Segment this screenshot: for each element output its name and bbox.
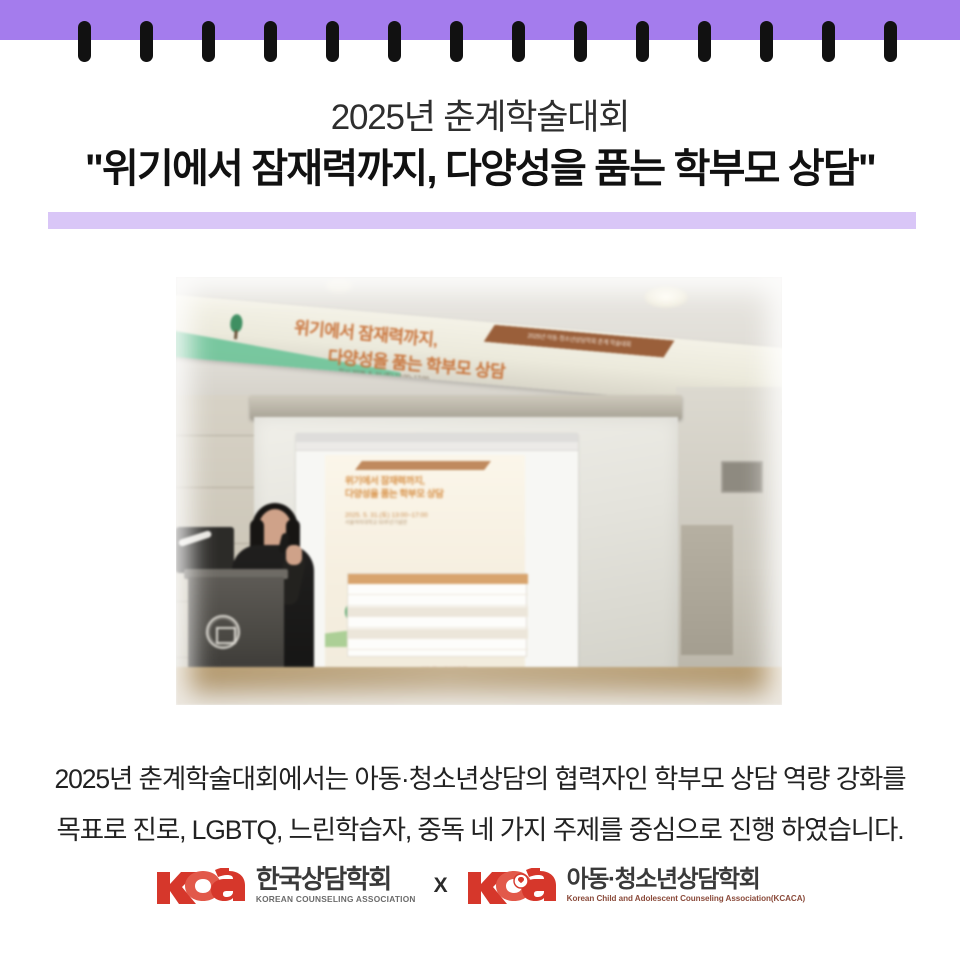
- kca-logo-text: 한국상담학회 KOREAN COUNSELING ASSOCIATION: [256, 866, 416, 905]
- projected-poster: 위기에서 잠재력까지, 다양성을 품는 학부모 상담 2025. 5. 31.(…: [325, 455, 525, 673]
- caption-line-1: 2025년 춘계학술대회에서는 아동·청소년상담의 협력자인 학부모 상담 역량…: [0, 754, 960, 805]
- projector-screen-frame: [250, 395, 682, 419]
- table-row: [348, 607, 528, 617]
- caption-block: 2025년 춘계학술대회에서는 아동·청소년상담의 협력자인 학부모 상담 역량…: [0, 754, 960, 856]
- presenter-hand: [286, 545, 302, 565]
- table-row: [348, 629, 528, 639]
- podium-emblem-icon: [206, 615, 240, 649]
- partner-logos: 한국상담학회 KOREAN COUNSELING ASSOCIATION X 아…: [0, 866, 960, 905]
- poster-title: 위기에서 잠재력까지, 다양성을 품는 학부모 상담: [345, 475, 513, 501]
- poster-ribbon: [355, 461, 491, 470]
- table-row: [348, 585, 528, 595]
- poster-title-line2: 다양성을 품는 학부모 상담: [345, 489, 443, 500]
- conference-photo: 2025년 아동·청소년상담학회 춘계 학술대회 위기에서 잠재력까지, 다양성…: [176, 277, 782, 705]
- table-row: [348, 596, 528, 606]
- kca-korean-name: 한국상담학회: [256, 866, 416, 893]
- browser-titlebar: [296, 433, 578, 442]
- poster-date: 2025. 5. 31.(토) 13:00~17:00: [345, 509, 428, 519]
- ceiling-light-secondary-icon: [326, 279, 352, 292]
- title-underline-bar: [48, 212, 916, 229]
- logo-kcaca: 아동·청소년상담학회 Korean Child and Adolescent C…: [466, 866, 805, 905]
- kcaca-english-name: Korean Child and Adolescent Counseling A…: [567, 893, 805, 905]
- poster-title-line1: 위기에서 잠재력까지,: [345, 476, 425, 487]
- caption-line-2: 목표로 진로, LGBTQ, 느린학습자, 중독 네 가지 주제를 중심으로 진…: [0, 805, 960, 856]
- banner-tree-icon: [229, 314, 243, 341]
- promo-card: 2025년 춘계학술대회 "위기에서 잠재력까지, 다양성을 품는 학부모 상담…: [0, 0, 960, 960]
- kca-logo-mark-icon: [155, 868, 247, 904]
- browser-toolbar: [296, 442, 578, 451]
- kca-english-name: KOREAN COUNSELING ASSOCIATION: [256, 893, 416, 905]
- projected-browser-window: 위기에서 잠재력까지, 다양성을 품는 학부모 상담 2025. 5. 31.(…: [296, 433, 578, 677]
- logo-kca: 한국상담학회 KOREAN COUNSELING ASSOCIATION: [155, 866, 416, 905]
- kcaca-korean-name: 아동·청소년상담학회: [567, 866, 805, 893]
- wall-door: [681, 525, 733, 655]
- wall-vent-icon: [721, 461, 763, 493]
- photo-floor-sheen: [176, 667, 782, 705]
- ceiling-light-icon: [644, 286, 688, 308]
- kcaca-logo-text: 아동·청소년상담학회 Korean Child and Adolescent C…: [567, 866, 805, 905]
- table-row: [348, 618, 528, 628]
- page-title: "위기에서 잠재력까지, 다양성을 품는 학부모 상담": [0, 144, 960, 194]
- poster-place: 서울여자대학교 50주년기념관: [345, 519, 407, 526]
- logo-separator: X: [434, 874, 448, 898]
- kcaca-logo-mark-icon: [466, 868, 558, 904]
- event-kicker: 2025년 춘계학술대회: [0, 96, 960, 140]
- table-row: [348, 640, 528, 650]
- top-purple-band: [0, 0, 960, 40]
- table-header-row: [348, 574, 528, 584]
- header-block: 2025년 춘계학술대회 "위기에서 잠재력까지, 다양성을 품는 학부모 상담…: [0, 96, 960, 194]
- poster-schedule-table: [347, 573, 527, 657]
